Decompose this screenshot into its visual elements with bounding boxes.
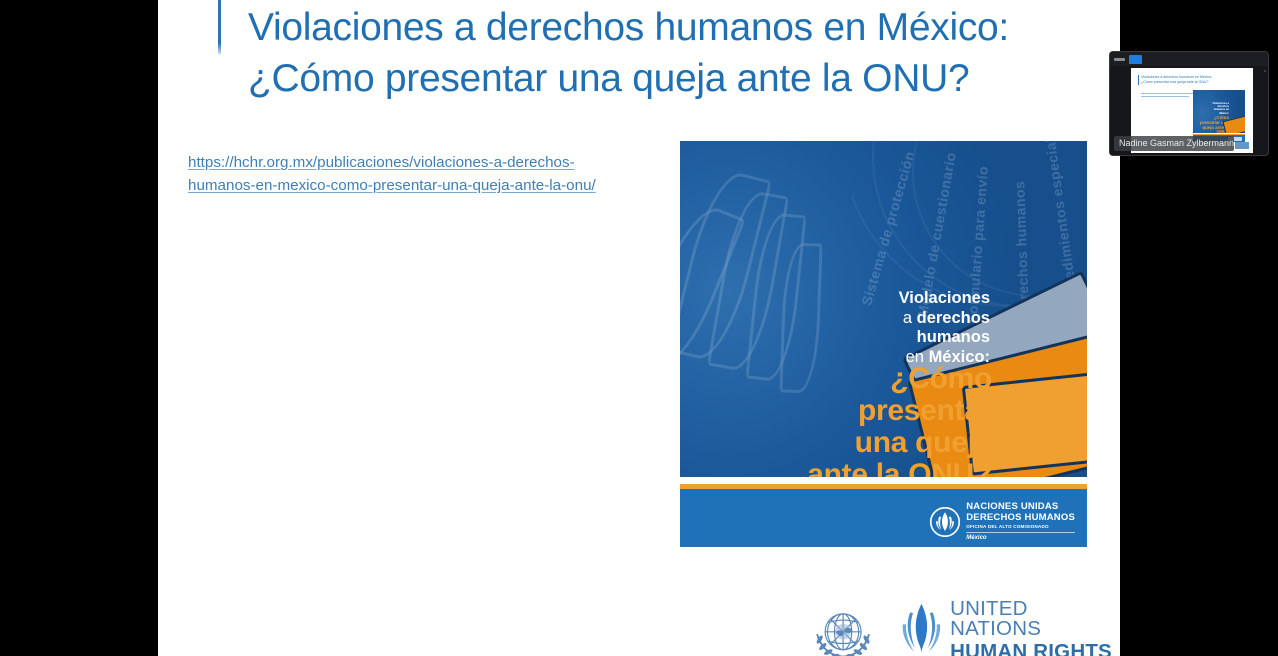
cover-heading: Violaciones a derechos humanos en México…	[830, 289, 990, 367]
cover-logo-line-2: DERECHOS HUMANOS	[966, 512, 1075, 523]
cover-logo-line-1: NACIONES UNIDAS	[966, 501, 1075, 512]
publication-cover-image: Sistema de protección Modelo de cuestion…	[680, 141, 1087, 547]
participant-name-label: Nadine Gasman Zylbermann	[1114, 136, 1234, 151]
cover-logo-divider	[966, 532, 1075, 533]
page-title: Violaciones a derechos humanos en México…	[248, 2, 1068, 104]
cover-question-l2: presentar	[720, 395, 992, 427]
cover-logo-line-3: OFICINA DEL ALTO COMISIONADO	[966, 523, 1075, 530]
screen-share-view: Violaciones a derechos humanos en México…	[0, 0, 1278, 656]
minimize-icon[interactable]	[1114, 58, 1125, 61]
preview-link-line-2	[1141, 96, 1189, 97]
publication-link-line-1[interactable]: https://hchr.org.mx/publicaciones/violac…	[188, 151, 658, 174]
cover-logo-text: NACIONES UNIDAS DERECHOS HUMANOS OFICINA…	[966, 501, 1075, 542]
un-human-rights-wordmark: UNITED NATIONS HUMAN RIGHTS	[950, 599, 1120, 656]
cover-heading-l2b: derechos	[917, 309, 990, 327]
cover-question-l3: una queja	[720, 427, 992, 459]
thumbnail-corner-dot	[1264, 70, 1266, 72]
united-nations-emblem-icon	[808, 600, 878, 656]
cover-question-l1: ¿Cómo	[720, 363, 992, 395]
preview-link-line-1	[1141, 93, 1201, 94]
ohchr-line-1: UNITED NATIONS	[950, 599, 1120, 640]
human-rights-flame-icon	[900, 601, 943, 656]
publication-link-line-2[interactable]: humanos-en-mexico-como-presentar-una-que…	[188, 174, 658, 197]
screen-share-active-icon[interactable]	[1129, 55, 1142, 64]
participant-video-thumbnail[interactable]: Violaciones a derechos humanos en México…	[1110, 52, 1268, 155]
cover-heading-l3: humanos	[917, 328, 990, 346]
cover-heading-l2a: a	[903, 309, 917, 327]
preview-footer-logos	[1235, 142, 1249, 149]
cover-footer: NACIONES UNIDAS DERECHOS HUMANOS OFICINA…	[680, 489, 1087, 547]
cover-ohchr-logo: NACIONES UNIDAS DERECHOS HUMANOS OFICINA…	[930, 501, 1075, 542]
cover-logo-line-4: México	[966, 534, 1075, 542]
title-accent-bar	[218, 0, 221, 54]
preview-title: Violaciones a derechos humanos en México…	[1141, 75, 1241, 86]
ohchr-line-2: HUMAN RIGHTS	[950, 642, 1120, 656]
preview-title-accent	[1138, 75, 1139, 85]
cover-question: ¿Cómo presentar una queja ante la ONU?	[720, 363, 992, 491]
thumbnail-control-bar[interactable]	[1110, 52, 1268, 66]
human-rights-flame-icon	[930, 507, 960, 537]
title-line-2: ¿Cómo presentar una queja ante la ONU?	[248, 53, 1068, 104]
un-human-rights-lockup: UNITED NATIONS HUMAN RIGHTS	[900, 599, 1120, 656]
slide-footer-logos: UNITED NATIONS HUMAN RIGHTS	[808, 599, 1120, 656]
preview-cover-image: Violaciones a derechos humanos en México…	[1193, 90, 1245, 142]
presentation-slide: Violaciones a derechos humanos en México…	[158, 0, 1120, 656]
preview-cover-heading: Violaciones a derechos humanos en México…	[1207, 102, 1229, 115]
cover-heading-l1: Violaciones	[899, 289, 990, 307]
cover-white-rule	[680, 477, 1087, 484]
publication-link[interactable]: https://hchr.org.mx/publicaciones/violac…	[188, 151, 658, 197]
title-line-1: Violaciones a derechos humanos en México…	[248, 2, 1068, 53]
preview-title-line-2: ¿Cómo presentar una queja ante la ONU?	[1141, 80, 1241, 85]
